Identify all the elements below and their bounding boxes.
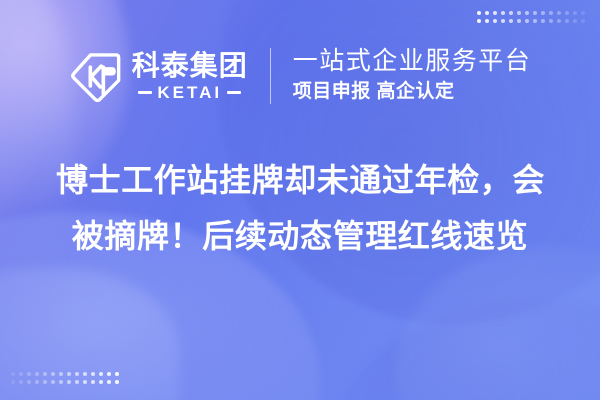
background-blob-dark-mid: [330, 300, 600, 400]
promo-banner: 科泰集团 KETAI 一站式企业服务平台 项目申报 高企认定 博士工作站挂牌却未…: [0, 0, 600, 400]
background-blob-wedge-bottom-left: [0, 268, 180, 400]
tagline-main: 一站式企业服务平台: [293, 47, 532, 77]
background-blob-light-bottom-right: [396, 246, 600, 400]
tagline-block: 一站式企业服务平台 项目申报 高企认定: [293, 47, 532, 105]
headline: 博士工作站挂牌却未通过年检，会 被摘牌！后续动态管理红线速览: [0, 152, 600, 264]
headline-line-1: 博士工作站挂牌却未通过年检，会: [56, 152, 544, 208]
headline-line-2: 被摘牌！后续动态管理红线速览: [56, 208, 544, 264]
brand-rule-right-icon: [227, 91, 241, 94]
brand-name-cn: 科泰集团: [132, 51, 248, 81]
dot-grid-bottom-left-icon: [11, 372, 123, 388]
brand-wordmark: 科泰集团 KETAI: [132, 51, 248, 101]
ketai-diamond-kp-logo-icon: [69, 50, 121, 102]
banner-header: 科泰集团 KETAI 一站式企业服务平台 项目申报 高企认定: [0, 40, 600, 112]
header-divider: [270, 48, 271, 104]
dot-grid-top-right-icon: [477, 11, 589, 27]
brand-name-en: KETAI: [157, 84, 222, 101]
brand-name-en-row: KETAI: [138, 84, 241, 101]
brand-lockup: 科泰集团 KETAI: [69, 50, 248, 102]
tagline-sub: 项目申报 高企认定: [293, 80, 532, 105]
brand-rule-left-icon: [138, 91, 152, 94]
